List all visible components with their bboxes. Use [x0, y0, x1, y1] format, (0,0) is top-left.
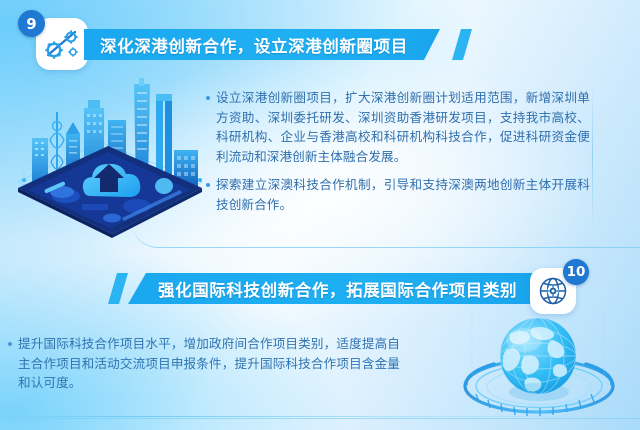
bullet-text: 探索建立深澳科技合作机制，引导和支持深澳两地创新主体开展科技创新合作。 [216, 175, 590, 214]
section-number-badge-10: 10 [563, 259, 589, 285]
section-title-bar-10: 强化国际科技创新合作，拓展国际合作项目类别 [128, 273, 568, 304]
list-item: 提升国际科技合作项目水平，增加政府间合作项目类别，适度提高自主合作项目和活动交流… [8, 334, 400, 393]
title-accent-slash-10 [108, 273, 128, 304]
title-accent-slash-9 [452, 29, 472, 60]
section-number-badge-9: 9 [18, 10, 45, 37]
section-title-text-9: 深化深港创新合作，设立深港创新圈项目 [100, 33, 408, 57]
globe-tech-rings-illustration [446, 308, 636, 430]
bullet-dot-icon [206, 96, 210, 100]
bullet-dot-icon [8, 342, 12, 346]
list-item: 探索建立深澳科技合作机制，引导和支持深澳两地创新主体开展科技创新合作。 [206, 175, 590, 214]
section-title-text-10: 强化国际科技创新合作，拓展国际合作项目类别 [158, 277, 517, 301]
section-title-bar-9: 深化深港创新合作，设立深港创新圈项目 [84, 29, 472, 60]
section-body-9: 设立深港创新圈项目，扩大深港创新圈计划适用范围，新增深圳单方资助、深圳委托研发、… [206, 88, 590, 223]
list-item: 设立深港创新圈项目，扩大深港创新圈计划适用范围，新增深圳单方资助、深圳委托研发、… [206, 88, 590, 166]
isometric-city-illustration [4, 78, 214, 250]
bullet-text: 提升国际科技合作项目水平，增加政府间合作项目类别，适度提高自主合作项目和活动交流… [18, 334, 400, 393]
decorative-vertical-line [592, 84, 593, 230]
gears-icon [42, 24, 82, 64]
bullet-text: 设立深港创新圈项目，扩大深港创新圈计划适用范围，新增深圳单方资助、深圳委托研发、… [216, 88, 590, 166]
section-body-10: 提升国际科技合作项目水平，增加政府间合作项目类别，适度提高自主合作项目和活动交流… [8, 334, 400, 402]
infographic-page: 9 深化深港创新合作，设立深港创新圈项目 设立深港创新圈项目，扩大深港创新圈计划… [0, 0, 640, 430]
bullet-dot-icon [206, 183, 210, 187]
